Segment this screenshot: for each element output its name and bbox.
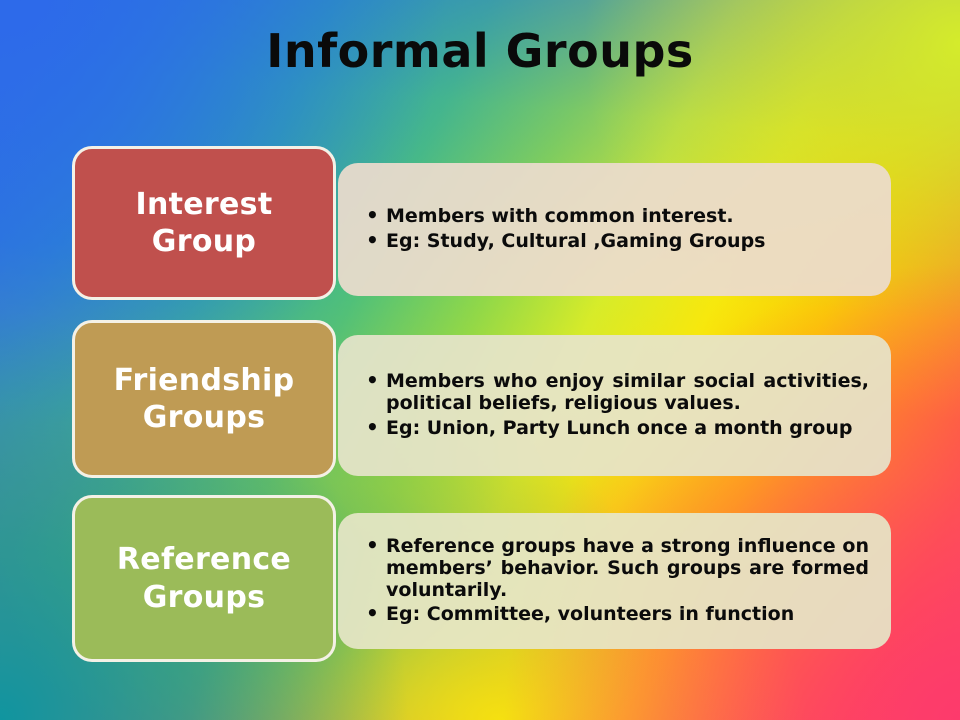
- content-panel-reference-groups: Reference groups have a strong influence…: [338, 513, 891, 649]
- bullet-item: Members who enjoy similar social activit…: [364, 370, 869, 414]
- label-box-reference-groups[interactable]: Reference Groups: [72, 495, 336, 662]
- bullet-item: Reference groups have a strong influence…: [364, 535, 869, 601]
- bullet-text: Eg: Study, Cultural ,Gaming Groups: [386, 230, 765, 252]
- content-panel-friendship-groups: Members who enjoy similar social activit…: [338, 335, 891, 476]
- slide-title: Informal Groups: [0, 28, 960, 74]
- label-line-1: Reference: [117, 541, 291, 579]
- bullet-text: Reference groups have a strong influence…: [386, 535, 869, 601]
- bullet-item: Eg: Study, Cultural ,Gaming Groups: [364, 230, 869, 252]
- label-line-1: Interest: [136, 186, 273, 224]
- bullet-item: Eg: Union, Party Lunch once a month grou…: [364, 417, 869, 439]
- label-line-1: Friendship: [114, 362, 295, 400]
- bullet-list: Reference groups have a strong influence…: [364, 535, 869, 627]
- label-line-2: Groups: [114, 399, 295, 437]
- label-box-interest-group[interactable]: Interest Group: [72, 146, 336, 300]
- label-box-friendship-groups[interactable]: Friendship Groups: [72, 320, 336, 478]
- bullet-text: Eg: Committee, volunteers in function: [386, 603, 869, 625]
- bullet-item: Members with common interest.: [364, 205, 869, 227]
- bullet-text: Members who enjoy similar social activit…: [386, 370, 869, 414]
- label-line-2: Groups: [117, 579, 291, 617]
- content-panel-interest-group: Members with common interest. Eg: Study,…: [338, 163, 891, 296]
- bullet-text: Eg: Union, Party Lunch once a month grou…: [386, 417, 869, 439]
- bullet-text: Members with common interest.: [386, 205, 734, 227]
- label-line-2: Group: [136, 223, 273, 261]
- label-box-text: Reference Groups: [117, 541, 291, 616]
- bullet-item: Eg: Committee, volunteers in function: [364, 603, 869, 625]
- slide-canvas: Informal Groups Interest Group Members w…: [0, 0, 960, 720]
- label-box-text: Friendship Groups: [114, 362, 295, 437]
- bullet-list: Members with common interest. Eg: Study,…: [364, 205, 869, 253]
- bullet-list: Members who enjoy similar social activit…: [364, 370, 869, 440]
- label-box-text: Interest Group: [136, 186, 273, 261]
